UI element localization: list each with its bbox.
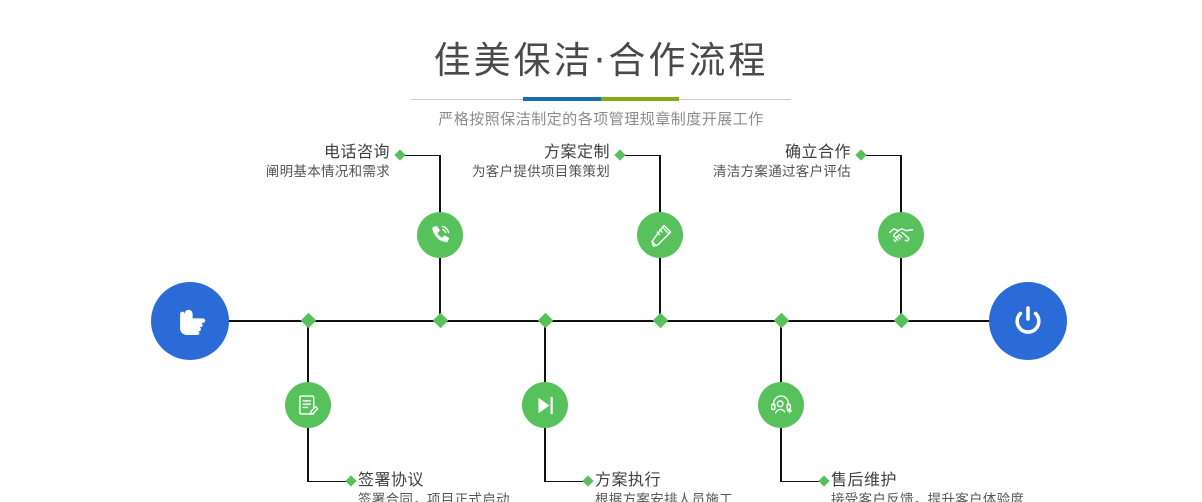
label-tip-diamond <box>855 149 866 160</box>
step-label-6: 售后维护 接受客户反馈，提升客户体验度 <box>831 470 1161 502</box>
process-flow: 电话咨询 阐明基本情况和需求 <box>0 0 1202 502</box>
document-edit-icon <box>295 392 321 418</box>
infographic-canvas: 佳美保洁·合作流程 严格按照保洁制定的各项管理规章制度开展工作 <box>0 0 1202 502</box>
handshake-icon <box>887 221 915 249</box>
support-agent-add-icon <box>768 392 794 418</box>
step-icon-badge-2[interactable] <box>285 382 331 428</box>
node-diamond <box>537 312 553 328</box>
flow-start-badge <box>151 282 229 360</box>
node-diamond <box>893 312 909 328</box>
step-icon-badge-3[interactable] <box>637 212 683 258</box>
power-icon <box>1007 300 1049 342</box>
pointing-hand-icon <box>168 299 212 343</box>
label-tip-diamond <box>345 475 356 486</box>
step-icon-badge-4[interactable] <box>522 382 568 428</box>
node-diamond <box>432 312 448 328</box>
step-label-3: 方案定制 为客户提供项目策策划 <box>340 142 610 182</box>
node-diamond <box>773 312 789 328</box>
play-skip-icon <box>533 393 558 418</box>
node-diamond <box>652 312 668 328</box>
phone-call-icon <box>427 222 453 248</box>
node-diamond <box>300 312 316 328</box>
flow-end-badge <box>989 282 1067 360</box>
step-icon-badge-6[interactable] <box>758 382 804 428</box>
step-label-5: 确立合作 清洁方案通过客户评估 <box>581 142 851 182</box>
pen-ruler-icon <box>647 222 674 249</box>
step-icon-badge-5[interactable] <box>878 212 924 258</box>
step-icon-badge-1[interactable] <box>417 212 463 258</box>
